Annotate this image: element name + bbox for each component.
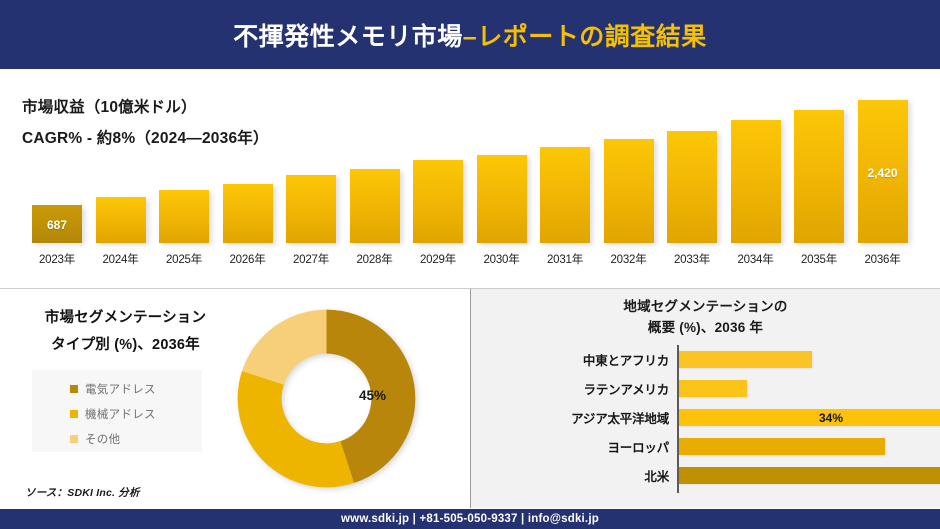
donut-slice[interactable] — [242, 310, 326, 385]
hbar-category-label: ヨーロッパ — [471, 437, 669, 456]
legend-item[interactable]: その他 — [32, 426, 202, 451]
column-chart-category-label: 2034年 — [727, 251, 785, 267]
donut-slice-label: 45% — [359, 388, 386, 403]
page-title-accent: –レポートの調査結果 — [463, 23, 707, 51]
column-chart-category-label: 2027年 — [282, 251, 340, 267]
hbar-row: ラテンアメリカ — [471, 374, 940, 403]
column-chart-bar[interactable] — [667, 131, 717, 243]
column-chart-bar-group: 2,420 — [854, 83, 912, 243]
column-chart-value-label: 2,420 — [854, 166, 912, 180]
column-chart-category-label: 2030年 — [473, 251, 531, 267]
column-chart-bar-group: 687 — [28, 83, 86, 243]
segmentation-legend: 電気アドレス機械アドレスその他 — [32, 370, 202, 452]
market-segmentation-panel: 市場セグメンテーション タイプ別 (%)、2036年 電気アドレス機械アドレスそ… — [0, 289, 470, 508]
column-chart-bar[interactable] — [286, 175, 336, 243]
hbar-bar[interactable] — [679, 438, 885, 455]
hbar-category-label: 中東とアフリカ — [471, 350, 669, 369]
regional-title-line-2: 概要 (%)、2036 年 — [471, 318, 940, 339]
column-chart-bar-group — [536, 83, 594, 243]
column-chart-bar[interactable] — [731, 120, 781, 243]
source-note: ソース：SDKI Inc. 分析 — [25, 485, 140, 500]
legend-item[interactable]: 電気アドレス — [32, 376, 202, 401]
regional-title: 地域セグメンテーションの 概要 (%)、2036 年 — [471, 297, 940, 339]
column-chart-category-label: 2036年 — [854, 251, 912, 267]
legend-color-swatch-icon — [70, 385, 78, 393]
hbar-row: ヨーロッパ — [471, 432, 940, 461]
column-chart-bar[interactable] — [540, 147, 590, 243]
column-chart-bar[interactable] — [350, 169, 400, 243]
page-title: 不揮発性メモリ市場–レポートの調査結果 — [233, 17, 706, 53]
regional-title-line-1: 地域セグメンテーションの — [471, 297, 940, 318]
footer-contact-text: www.sdki.jp | +81-505-050-9337 | info@sd… — [341, 513, 599, 525]
column-chart-category-label: 2026年 — [219, 251, 277, 267]
column-chart-bar[interactable] — [96, 197, 146, 243]
hbar-category-label: アジア太平洋地域 — [471, 408, 669, 427]
hbar-category-label: 北米 — [471, 466, 669, 485]
hbar-bar[interactable] — [679, 467, 940, 484]
column-chart-category-label: 2025年 — [155, 251, 213, 267]
segmentation-donut-wrap: 45% — [233, 305, 420, 492]
legend-item-label: その他 — [85, 431, 120, 447]
legend-item-label: 機械アドレス — [85, 406, 156, 422]
regional-segmentation-panel: 地域セグメンテーションの 概要 (%)、2036 年 中東とアフリカラテンアメリ… — [471, 289, 940, 508]
market-revenue-column-chart: 6872,420 2023年2024年2025年2026年2027年2028年2… — [26, 83, 918, 283]
segmentation-donut-chart — [233, 305, 420, 492]
column-chart-bar-group — [600, 83, 658, 243]
footer-banner: www.sdki.jp | +81-505-050-9337 | info@sd… — [0, 509, 940, 529]
hbar-bar[interactable] — [679, 380, 747, 397]
hbar-bar[interactable] — [679, 409, 940, 426]
column-chart-bar-group — [409, 83, 467, 243]
segmentation-title: 市場セグメンテーション タイプ別 (%)、2036年 — [18, 305, 233, 359]
market-revenue-section: 市場収益（10億米ドル） CAGR% - 約8%（2024―2036年） 687… — [0, 69, 940, 289]
column-chart-bar-group — [92, 83, 150, 243]
column-chart-bar-group — [219, 83, 277, 243]
column-chart-bar[interactable] — [223, 184, 273, 243]
hbar-value-label: 34% — [819, 411, 843, 425]
column-chart-bar[interactable] — [159, 190, 209, 243]
column-chart-bar[interactable] — [794, 110, 844, 243]
legend-item-label: 電気アドレス — [85, 381, 156, 397]
column-chart-bar-group — [663, 83, 721, 243]
regional-hbar-chart: 中東とアフリカラテンアメリカアジア太平洋地域34%ヨーロッパ北米 — [471, 341, 940, 499]
column-chart-category-label: 2029年 — [409, 251, 467, 267]
hbar-row: アジア太平洋地域34% — [471, 403, 940, 432]
column-chart-bar-group — [282, 83, 340, 243]
column-chart-bar[interactable] — [604, 139, 654, 243]
column-chart-bar-group — [155, 83, 213, 243]
column-chart-category-label: 2023年 — [28, 251, 86, 267]
column-chart-category-label: 2032年 — [600, 251, 658, 267]
hbar-row: 中東とアフリカ — [471, 345, 940, 374]
column-chart-bar-group — [790, 83, 848, 243]
column-chart-bar[interactable] — [413, 160, 463, 243]
column-chart-value-label: 687 — [28, 218, 86, 232]
header-banner: 不揮発性メモリ市場–レポートの調査結果 — [0, 0, 940, 69]
column-chart-bar-group — [346, 83, 404, 243]
segmentation-title-line-1: 市場セグメンテーション — [18, 305, 233, 332]
legend-item[interactable]: 機械アドレス — [32, 401, 202, 426]
column-chart-category-label: 2035年 — [790, 251, 848, 267]
donut-slice[interactable] — [238, 371, 354, 487]
column-chart-bar-group — [473, 83, 531, 243]
legend-color-swatch-icon — [70, 410, 78, 418]
column-chart-plot-area: 6872,420 — [26, 83, 918, 243]
segmentation-title-line-2: タイプ別 (%)、2036年 — [18, 332, 233, 359]
hbar-bar[interactable] — [679, 351, 812, 368]
column-chart-category-label: 2028年 — [346, 251, 404, 267]
hbar-row: 北米 — [471, 461, 940, 490]
legend-color-swatch-icon — [70, 435, 78, 443]
column-chart-bar[interactable] — [477, 155, 527, 243]
infographic-page: 不揮発性メモリ市場–レポートの調査結果 市場収益（10億米ドル） CAGR% -… — [0, 0, 940, 529]
column-chart-bar-group — [727, 83, 785, 243]
column-chart-category-label: 2033年 — [663, 251, 721, 267]
column-chart-category-label: 2024年 — [92, 251, 150, 267]
hbar-category-label: ラテンアメリカ — [471, 379, 669, 398]
page-title-main: 不揮発性メモリ市場 — [233, 23, 463, 51]
column-chart-category-label: 2031年 — [536, 251, 594, 267]
